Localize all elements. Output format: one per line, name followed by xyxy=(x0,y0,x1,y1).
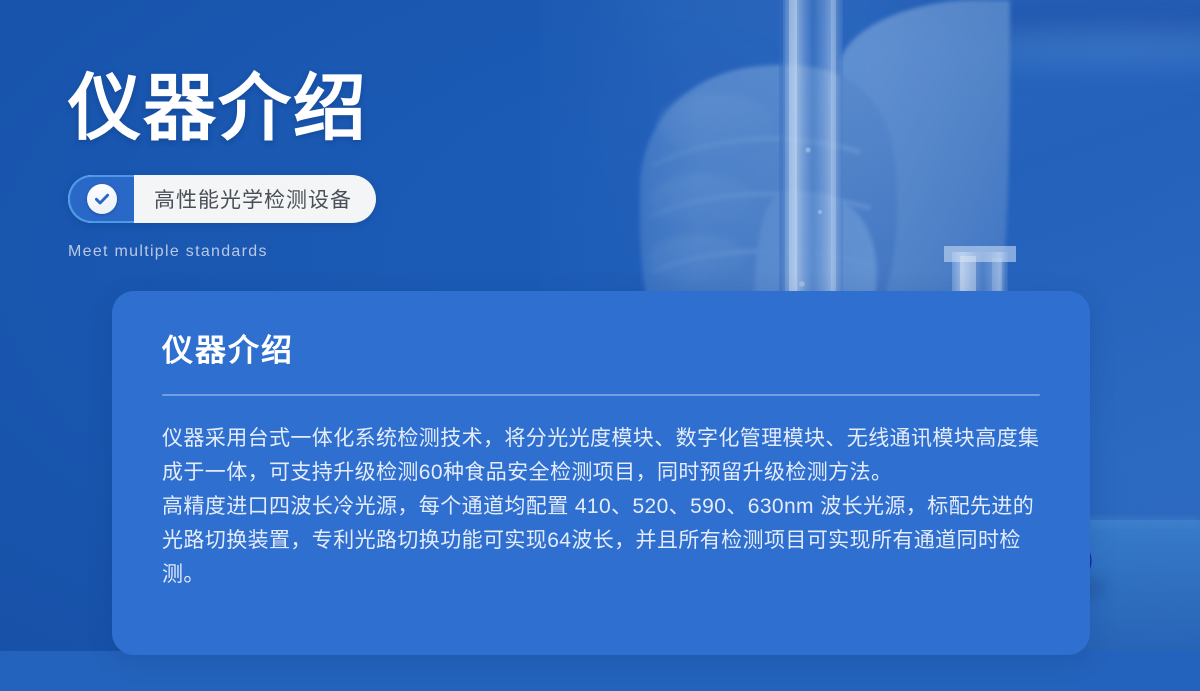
card-title: 仪器介绍 xyxy=(162,325,1042,370)
instrument-introduction-page: 仪器介绍 高性能光学检测设备 Meet multiple standards 仪… xyxy=(0,0,1200,691)
hero-subtitle: Meet multiple standards xyxy=(68,243,376,261)
hero-header: 仪器介绍 高性能光学检测设备 Meet multiple standards xyxy=(68,72,376,261)
card-paragraph: 仪器采用台式一体化系统检测技术，将分光光度模块、数字化管理模块、无线通讯模块高度… xyxy=(162,422,1042,490)
check-circle-icon xyxy=(87,184,117,214)
card-body: 仪器采用台式一体化系统检测技术，将分光光度模块、数字化管理模块、无线通讯模块高度… xyxy=(162,422,1042,592)
page-title: 仪器介绍 xyxy=(68,72,376,145)
card-paragraph: 高精度进口四波长冷光源，每个通道均配置 410、520、590、630nm 波长… xyxy=(162,490,1042,592)
feature-badge: 高性能光学检测设备 xyxy=(68,175,376,223)
badge-icon-section xyxy=(68,175,134,223)
badge-label: 高性能光学检测设备 xyxy=(134,175,376,223)
instrument-introduction-card: 仪器介绍 仪器采用台式一体化系统检测技术，将分光光度模块、数字化管理模块、无线通… xyxy=(112,291,1090,655)
page-bottom-band xyxy=(0,651,1200,691)
card-title-divider xyxy=(162,394,1040,396)
